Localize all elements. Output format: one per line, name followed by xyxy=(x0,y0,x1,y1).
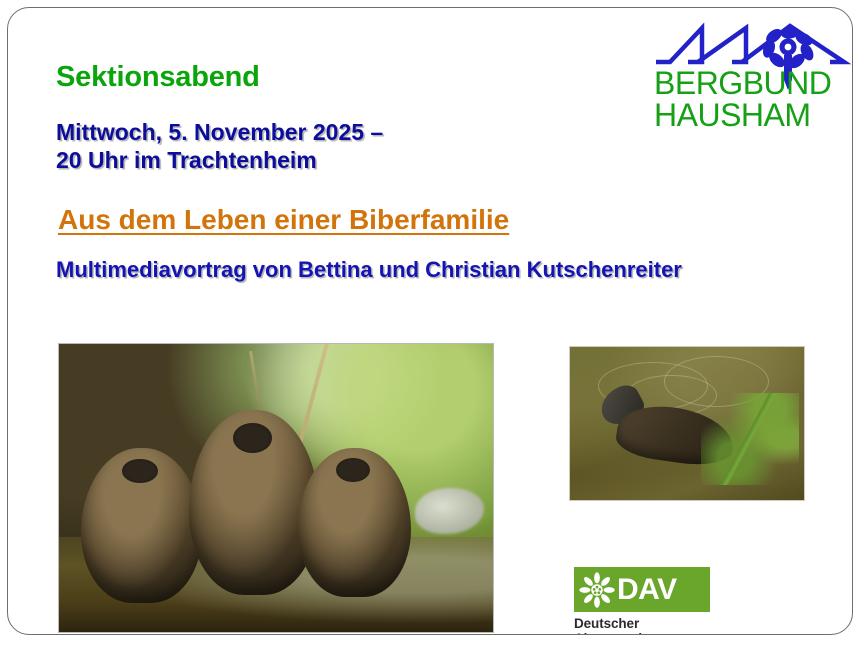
beaver-left xyxy=(81,448,203,604)
event-date-time: Mittwoch, 5. November 2025 – 20 Uhr im T… xyxy=(56,118,383,174)
beaver-right xyxy=(298,448,411,598)
willow-branch xyxy=(701,393,799,485)
photo-three-beavers xyxy=(58,343,494,633)
bergbund-hausham-logo: BERGBUND HAUSHAM xyxy=(654,20,853,132)
dav-logo: DAV Deutscher Alpenverein xyxy=(574,567,710,635)
dav-wordmark: DAV xyxy=(617,575,677,605)
dav-badge: DAV xyxy=(574,567,710,612)
photo-swimming-beaver xyxy=(569,346,805,501)
event-date: Mittwoch, 5. November 2025 – xyxy=(56,118,383,146)
slide-frame: BERGBUND HAUSHAM Sektionsabend Mittwoch,… xyxy=(7,7,853,635)
talk-title: Aus dem Leben einer Biberfamilie xyxy=(58,204,509,236)
mountain-peaks-icon xyxy=(656,26,844,62)
beaver-center xyxy=(189,410,319,594)
dav-subtitle: Deutscher Alpenverein xyxy=(574,616,710,635)
bergbund-logo-line2: HAUSHAM xyxy=(654,97,811,132)
event-time-venue: 20 Uhr im Trachtenheim xyxy=(56,146,383,174)
dav-edelweiss-icon xyxy=(579,572,615,608)
bergbund-logo-line1: BERGBUND xyxy=(654,65,831,101)
photo-swimming-beaver-scene xyxy=(570,347,804,500)
presenter-line: Multimediavortrag von Bettina und Christ… xyxy=(56,256,696,284)
event-heading: Sektionsabend xyxy=(56,61,260,94)
photo-three-beavers-scene xyxy=(59,344,493,632)
